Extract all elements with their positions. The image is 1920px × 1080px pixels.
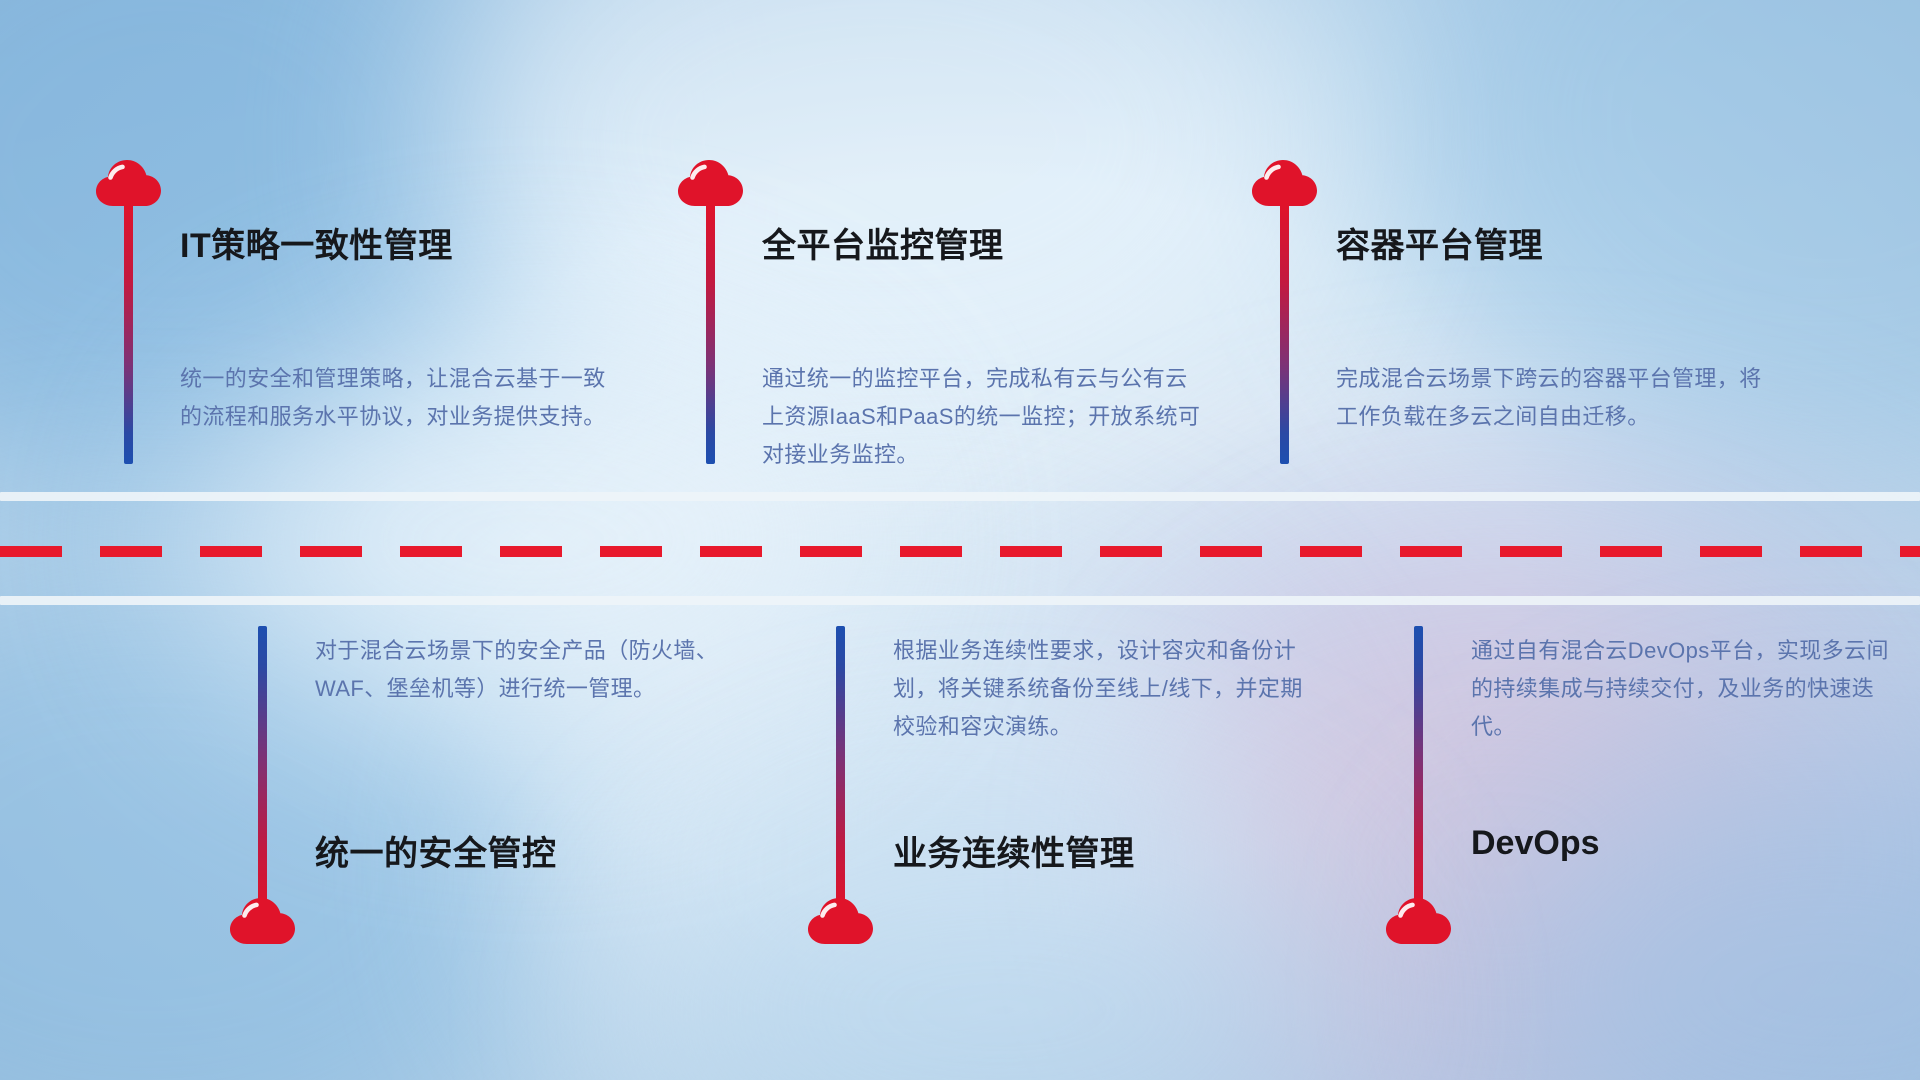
feature-heading: DevOps	[1471, 824, 1600, 863]
connector-bar	[1414, 626, 1423, 912]
feature-description: 统一的安全和管理策略，让混合云基于一致的流程和服务水平协议，对业务提供支持。	[180, 360, 610, 436]
feature-description: 对于混合云场景下的安全产品（防火墙、WAF、堡垒机等）进行统一管理。	[315, 632, 745, 708]
connector-bar	[258, 626, 267, 912]
feature-heading: 容器平台管理	[1336, 218, 1543, 267]
cloud-icon	[1386, 898, 1452, 946]
connector-bar	[706, 204, 715, 464]
feature-heading: 业务连续性管理	[893, 826, 1135, 875]
cloud-icon	[230, 898, 296, 946]
feature-description: 通过统一的监控平台，完成私有云与公有云上资源IaaS和PaaS的统一监控；开放系…	[762, 360, 1202, 474]
divider-line-top	[0, 492, 1920, 501]
dashed-red-line	[0, 546, 1920, 557]
feature-heading: 全平台监控管理	[762, 218, 1004, 267]
connector-bar	[124, 204, 133, 464]
feature-heading: 统一的安全管控	[315, 826, 557, 875]
feature-heading: IT策略一致性管理	[180, 218, 453, 267]
feature-description: 通过自有混合云DevOps平台，实现多云间的持续集成与持续交付，及业务的快速迭代…	[1471, 632, 1901, 746]
cloud-icon	[808, 898, 874, 946]
feature-description: 完成混合云场景下跨云的容器平台管理，将工作负载在多云之间自由迁移。	[1336, 360, 1776, 436]
infographic-canvas: IT策略一致性管理 统一的安全和管理策略，让混合云基于一致的流程和服务水平协议，…	[0, 0, 1920, 1080]
connector-bar	[836, 626, 845, 912]
cloud-icon	[1252, 160, 1318, 208]
feature-description: 根据业务连续性要求，设计容灾和备份计划，将关键系统备份至线上/线下，并定期校验和…	[893, 632, 1323, 746]
divider-line-bottom	[0, 596, 1920, 605]
connector-bar	[1280, 204, 1289, 464]
cloud-icon	[678, 160, 744, 208]
cloud-icon	[96, 160, 162, 208]
